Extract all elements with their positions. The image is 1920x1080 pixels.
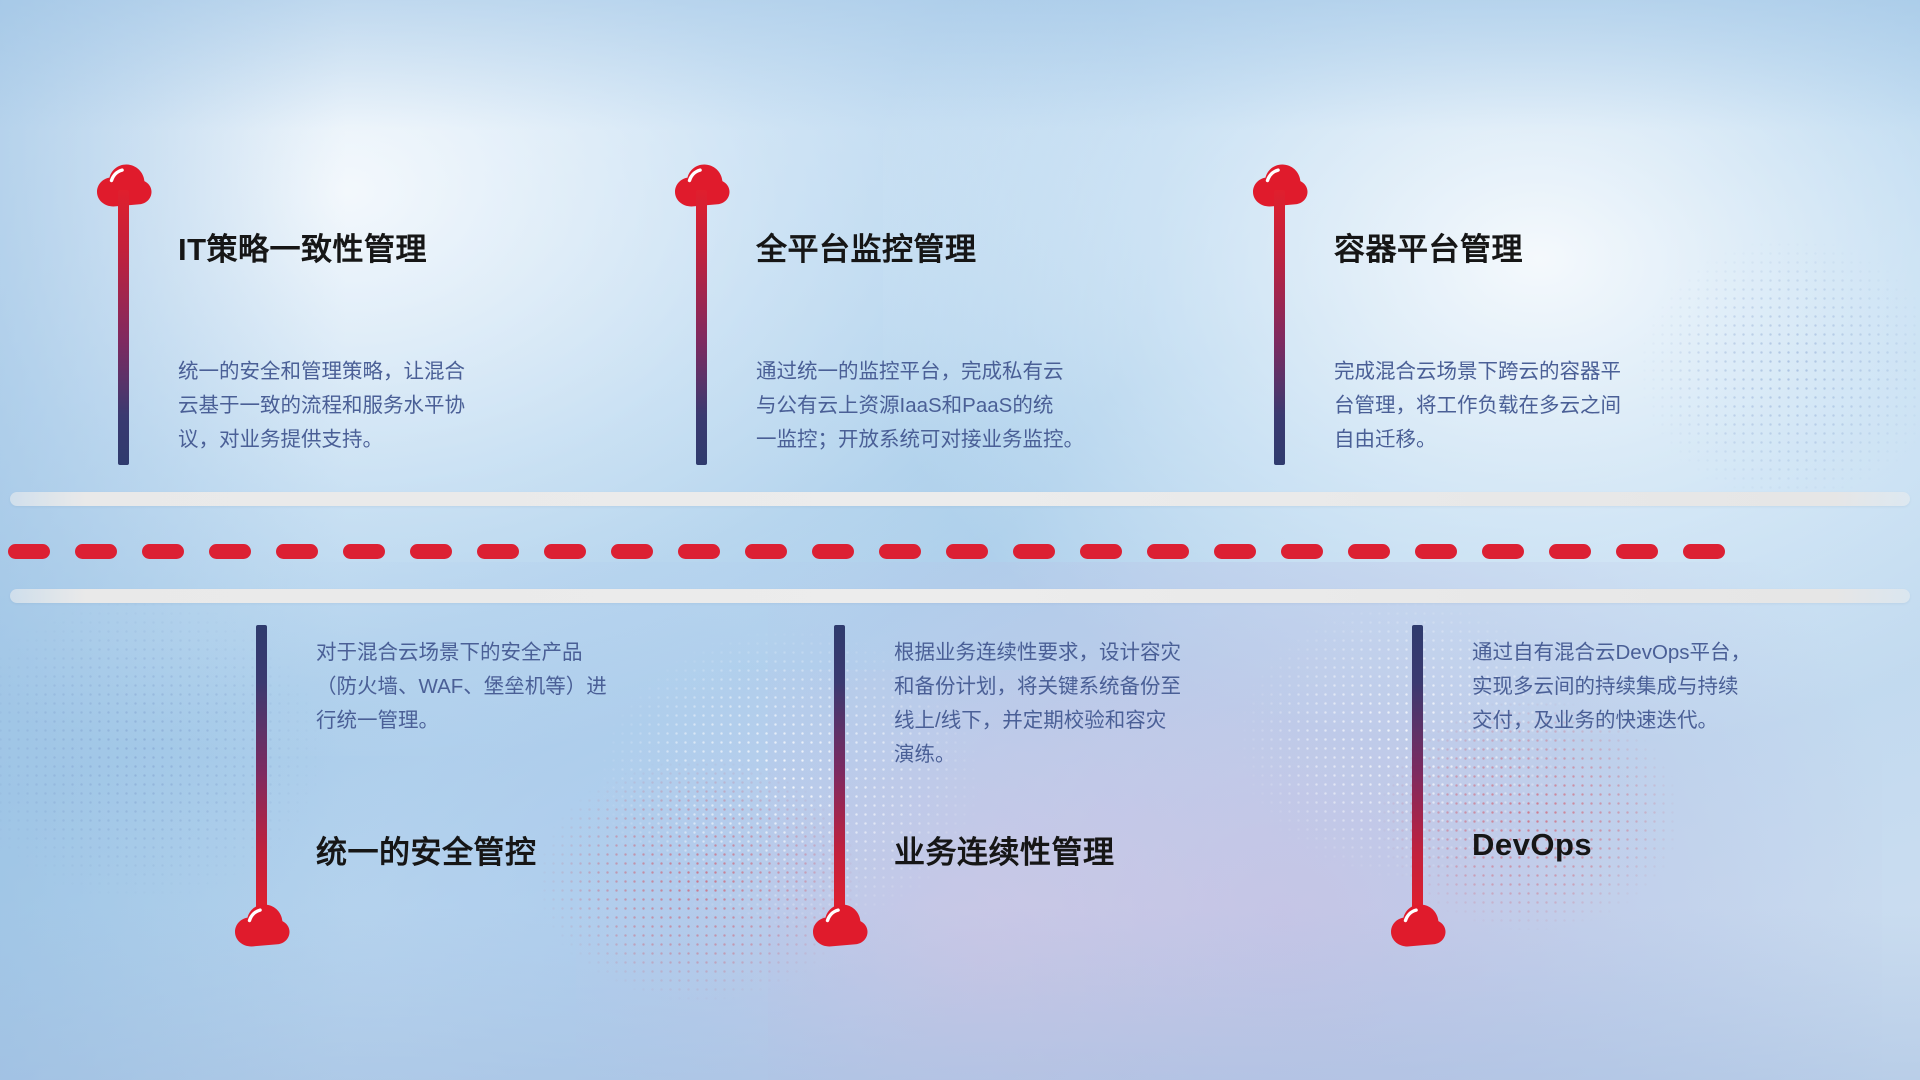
bottom-panel-3-title: DevOps: [1472, 827, 1592, 863]
divider-dash: [678, 544, 720, 559]
background-vignette-top: [0, 0, 1920, 130]
divider-dash: [142, 544, 184, 559]
divider-dash: [1683, 544, 1725, 559]
divider-dash: [1147, 544, 1189, 559]
divider-dash: [477, 544, 519, 559]
divider-dash: [1080, 544, 1122, 559]
bottom-panel-2-body: 根据业务连续性要求，设计容灾 和备份计划，将关键系统备份至 线上/线下，并定期校…: [894, 636, 1244, 772]
divider-dash: [544, 544, 586, 559]
divider-dash: [946, 544, 988, 559]
divider-dash: [611, 544, 653, 559]
divider-dash: [209, 544, 251, 559]
timeline-bar: [1274, 190, 1285, 465]
bottom-panel-1-body: 对于混合云场景下的安全产品 （防火墙、WAF、堡垒机等）进 行统一管理。: [316, 636, 666, 738]
top-panel-2-body: 通过统一的监控平台，完成私有云 与公有云上资源IaaS和PaaS的统 一监控；开…: [756, 355, 1101, 457]
bottom-panel-1-title: 统一的安全管控: [316, 827, 537, 872]
divider-dash: [1415, 544, 1457, 559]
divider-dash: [1549, 544, 1591, 559]
timeline-bar: [696, 190, 707, 465]
cloud-icon: [809, 900, 871, 948]
divider-dash: [1281, 544, 1323, 559]
divider-dash: [745, 544, 787, 559]
divider-dash: [410, 544, 452, 559]
divider-dash: [276, 544, 318, 559]
top-panel-1-body: 统一的安全和管理策略，让混合 云基于一致的流程和服务水平协 议，对业务提供支持。: [178, 355, 508, 457]
top-panel-3-body: 完成混合云场景下跨云的容器平 台管理，将工作负载在多云之间 自由迁移。: [1334, 355, 1664, 457]
bottom-panel-3-body: 通过自有混合云DevOps平台， 实现多云间的持续集成与持续 交付，及业务的快速…: [1472, 636, 1822, 738]
divider-dash: [812, 544, 854, 559]
cloud-icon: [1387, 900, 1449, 948]
divider-dash: [343, 544, 385, 559]
top-panel-2-title: 全平台监控管理: [756, 224, 977, 269]
divider-dash: [8, 544, 50, 559]
timeline-bar: [1412, 625, 1423, 910]
top-panel-3-title: 容器平台管理: [1334, 224, 1523, 269]
top-panel-1-title: IT策略一致性管理: [178, 224, 427, 269]
infographic-canvas: IT策略一致性管理 统一的安全和管理策略，让混合 云基于一致的流程和服务水平协 …: [0, 0, 1920, 1080]
divider-dash: [75, 544, 117, 559]
divider-dash: [1616, 544, 1658, 559]
red-dashed-divider: [0, 543, 1920, 559]
divider-dash: [1013, 544, 1055, 559]
divider-dash: [1348, 544, 1390, 559]
divider-band-bottom: [10, 589, 1910, 603]
bottom-panel-2-title: 业务连续性管理: [894, 827, 1115, 872]
divider-dash: [1482, 544, 1524, 559]
cloud-icon: [231, 900, 293, 948]
timeline-bar: [118, 190, 129, 465]
timeline-bar: [256, 625, 267, 910]
divider-band-top: [10, 492, 1910, 506]
timeline-bar: [834, 625, 845, 910]
divider-dash: [879, 544, 921, 559]
divider-dash: [1214, 544, 1256, 559]
